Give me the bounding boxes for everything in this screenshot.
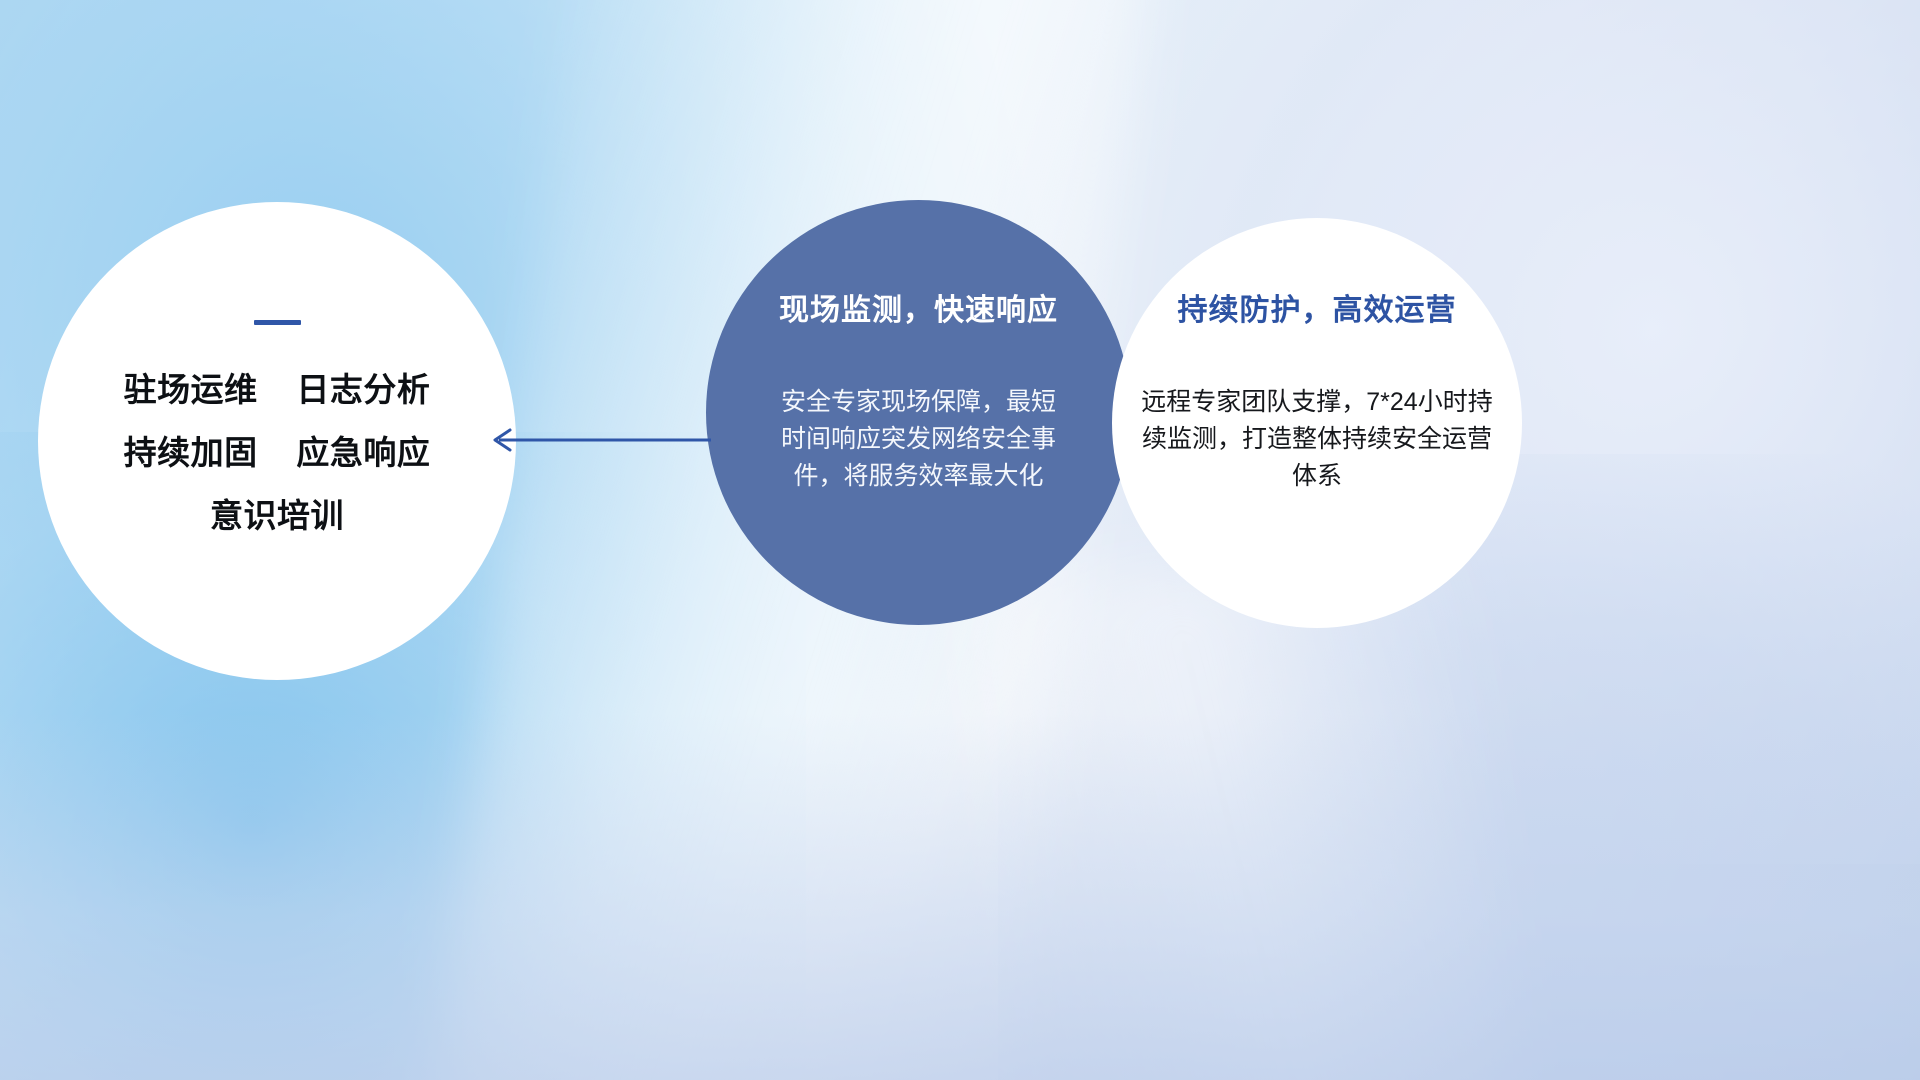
right-circle-body: 远程专家团队支撑，7*24小时持续监测，打造整体持续安全运营体系	[1140, 384, 1494, 495]
capability-line: 驻场运维 日志分析	[124, 373, 431, 406]
continuous-protection-circle: 持续防护，高效运营 远程专家团队支撑，7*24小时持续监测，打造整体持续安全运营…	[1112, 218, 1522, 628]
left-capability-circle: 驻场运维 日志分析 持续加固 应急响应 意识培训	[38, 202, 516, 680]
right-circle-title: 持续防护，高效运营	[1178, 296, 1457, 326]
mid-circle-content: 现场监测，快速响应 安全专家现场保障，最短时间响应突发网络安全事件，将服务效率最…	[706, 200, 1131, 625]
background-bottom-haze	[0, 713, 1920, 1080]
capability-line: 持续加固 应急响应	[124, 436, 431, 469]
onsite-monitoring-circle: 现场监测，快速响应 安全专家现场保障，最短时间响应突发网络安全事件，将服务效率最…	[706, 200, 1131, 625]
right-circle-content: 持续防护，高效运营 远程专家团队支撑，7*24小时持续监测，打造整体持续安全运营…	[1112, 218, 1522, 628]
dash-divider-icon	[254, 320, 301, 325]
mid-circle-body: 安全专家现场保障，最短时间响应突发网络安全事件，将服务效率最大化	[781, 384, 1057, 495]
left-pointing-arrow	[480, 418, 712, 462]
mid-circle-title: 现场监测，快速响应	[779, 296, 1058, 326]
capability-line: 意识培训	[210, 499, 344, 532]
left-circle-content: 驻场运维 日志分析 持续加固 应急响应 意识培训	[38, 202, 516, 680]
